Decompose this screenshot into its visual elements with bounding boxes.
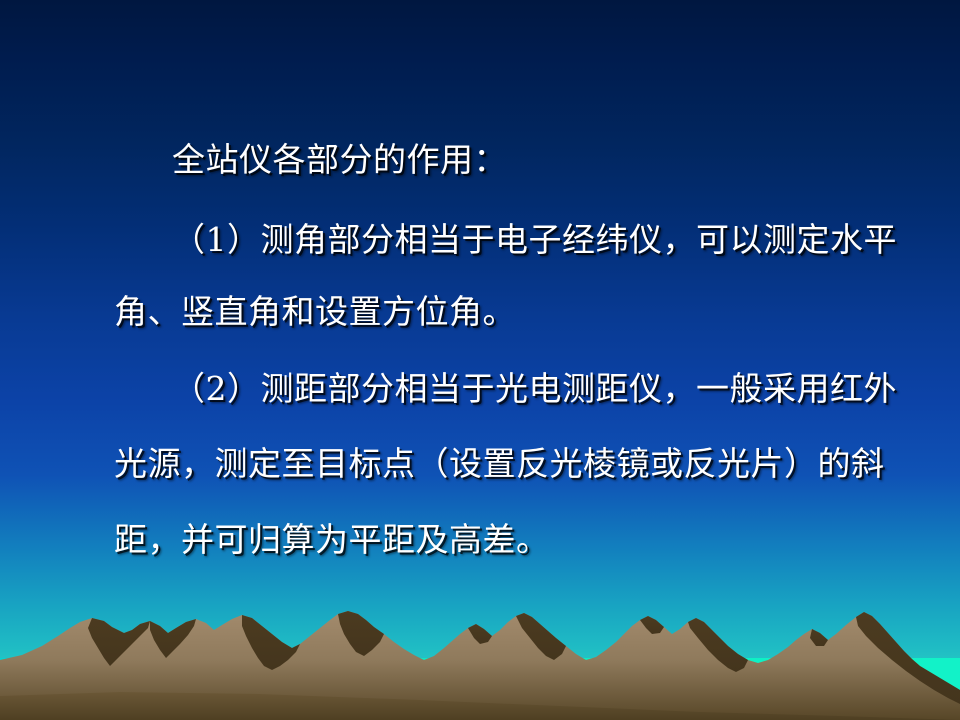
slide-canvas: 全站仪各部分的作用： （1）测角部分相当于电子经纬仪，可以测定水平 角、竖直角和… — [0, 0, 960, 720]
mountain-range-illustration — [0, 600, 960, 720]
